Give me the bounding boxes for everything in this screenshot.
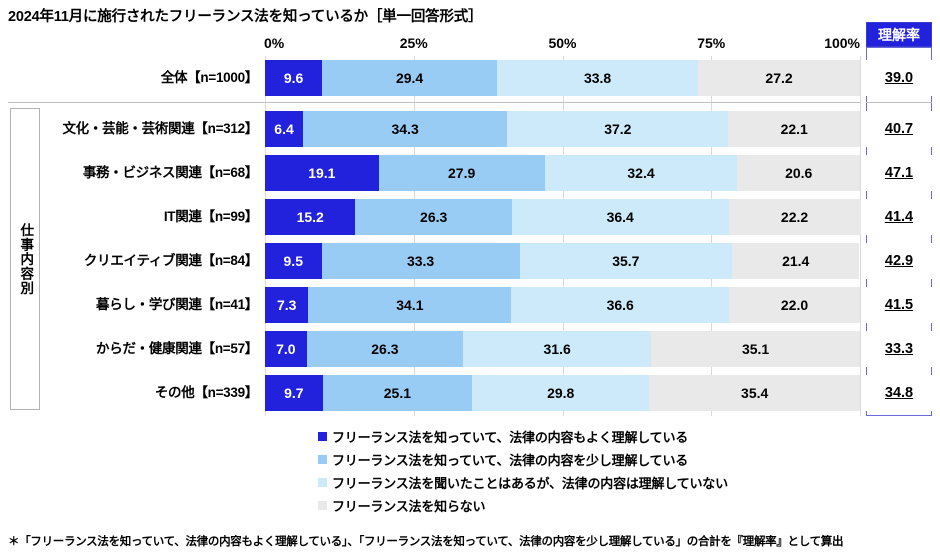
x-axis-tick-50: 50% [541,35,585,51]
bar-segment: 19.1 [265,155,379,191]
row-label: その他【n=339】 [30,375,258,411]
footnote: ＊「フリーランス法を知っていて、法律の内容もよく理解している」、「フリーランス法… [8,533,843,549]
stacked-bar: 7.334.136.622.0 [265,287,860,323]
row-label: 文化・芸能・芸術関連【n=312】 [30,111,258,147]
legend: フリーランス法を知っていて、法律の内容もよく理解しているフリーランス法を知ってい… [318,425,918,517]
rate-value: 41.4 [866,199,932,235]
bar-segment: 36.6 [511,287,729,323]
bar-segment: 20.6 [737,155,860,191]
chart-row: 暮らし・学び関連【n=41】7.334.136.622.041.5 [0,287,940,323]
bar-segment: 34.1 [308,287,511,323]
row-label: 全体【n=1000】 [30,60,258,96]
chart-row: 全体【n=1000】9.629.433.827.239.0 [0,60,940,96]
bar-segment: 29.4 [322,60,497,96]
legend-swatch-icon [318,478,327,487]
rate-column-header: 理解率 [866,22,932,47]
x-axis-tick-labels: 0%25%50%75%100% [0,35,940,55]
bar-segment: 37.2 [507,111,728,147]
legend-swatch-icon [318,432,327,441]
rate-value: 39.0 [866,60,932,96]
bar-segment: 26.3 [307,331,463,367]
rate-value: 42.9 [866,243,932,279]
bar-segment: 33.8 [497,60,698,96]
legend-swatch-icon [318,455,327,464]
rate-column-divider [866,102,932,103]
bar-segment: 27.2 [698,60,860,96]
bar-segment: 21.4 [732,243,859,279]
rate-value: 33.3 [866,331,932,367]
bar-segment: 7.0 [265,331,307,367]
bar-segment: 35.4 [649,375,860,411]
page-title: 2024年11月に施行されたフリーランス法を知っているか［単一回答形式］ [8,5,482,26]
rate-value: 40.7 [866,111,932,147]
stacked-bar: 15.226.336.422.2 [265,199,860,235]
chart-row: からだ・健康関連【n=57】7.026.331.635.133.3 [0,331,940,367]
bar-segment: 22.1 [728,111,859,147]
bar-segment: 9.5 [265,243,322,279]
legend-item: フリーランス法を聞いたことはあるが、法律の内容は理解していない [318,471,918,494]
legend-label: フリーランス法を知っていて、法律の内容を少し理解している [332,450,688,469]
legend-item: フリーランス法を知っていて、法律の内容もよく理解している [318,425,918,448]
chart-row: 文化・芸能・芸術関連【n=312】6.434.337.222.140.7 [0,111,940,147]
bar-segment: 15.2 [265,199,355,235]
row-label: からだ・健康関連【n=57】 [30,331,258,367]
x-axis-tick-25: 25% [392,35,436,51]
row-label: 事務・ビジネス関連【n=68】 [30,155,258,191]
legend-label: フリーランス法を知っていて、法律の内容もよく理解している [332,427,688,446]
stacked-bar: 7.026.331.635.1 [265,331,860,367]
row-label: IT関連【n=99】 [30,199,258,235]
x-axis-tick-100: 100% [816,35,860,51]
legend-item: フリーランス法を知らない [318,494,918,517]
legend-swatch-icon [318,501,327,510]
bar-segment: 22.2 [729,199,861,235]
bar-segment: 27.9 [379,155,545,191]
x-axis-tick-75: 75% [689,35,733,51]
rate-value: 47.1 [866,155,932,191]
stacked-bar: 9.533.335.721.4 [265,243,860,279]
bar-segment: 35.7 [520,243,732,279]
legend-item: フリーランス法を知っていて、法律の内容を少し理解している [318,448,918,471]
bar-segment: 9.6 [265,60,322,96]
legend-label: フリーランス法を知らない [332,496,485,515]
stacked-bar: 19.127.932.420.6 [265,155,860,191]
rate-value: 41.5 [866,287,932,323]
bar-segment: 32.4 [545,155,738,191]
bar-segment: 36.4 [512,199,729,235]
stacked-bar: 6.434.337.222.1 [265,111,860,147]
bar-segment: 9.7 [265,375,323,411]
bar-segment: 29.8 [472,375,649,411]
chart-row: クリエイティブ関連【n=84】9.533.335.721.442.9 [0,243,940,279]
rate-value: 34.8 [866,375,932,411]
chart-row: IT関連【n=99】15.226.336.422.241.4 [0,199,940,235]
chart-row: 事務・ビジネス関連【n=68】19.127.932.420.647.1 [0,155,940,191]
bar-segment: 33.3 [322,243,520,279]
total-row-separator [8,102,860,103]
bar-segment: 22.0 [729,287,860,323]
stacked-bar: 9.725.129.835.4 [265,375,860,411]
bar-segment: 7.3 [265,287,308,323]
x-axis-tick-0: 0% [264,35,308,51]
legend-label: フリーランス法を聞いたことはあるが、法律の内容は理解していない [332,473,728,492]
bar-segment: 26.3 [355,199,511,235]
chart-row: その他【n=339】9.725.129.835.434.8 [0,375,940,411]
row-label: 暮らし・学び関連【n=41】 [30,287,258,323]
bar-segment: 31.6 [463,331,651,367]
bar-segment: 25.1 [323,375,472,411]
bar-segment: 35.1 [651,331,860,367]
stacked-bar: 9.629.433.827.2 [265,60,860,96]
row-label: クリエイティブ関連【n=84】 [30,243,258,279]
bar-segment: 34.3 [303,111,507,147]
bar-segment: 6.4 [265,111,303,147]
